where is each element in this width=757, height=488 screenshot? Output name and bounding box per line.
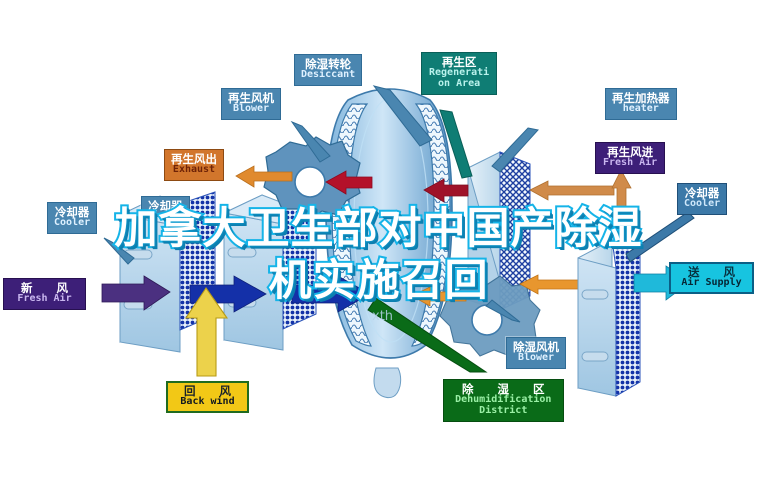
- label-regen-heater[interactable]: 再生加热器 heater: [605, 88, 677, 120]
- label-dehum-blower[interactable]: 除湿风机 Blower: [506, 337, 566, 369]
- label-cooler-left-en: Cooler: [54, 218, 90, 229]
- regen-fresh-arrow: [530, 170, 631, 228]
- label-cooler-mid-cn: 冷却器: [148, 200, 183, 212]
- label-back-wind[interactable]: 回 风 Back wind: [166, 381, 249, 413]
- diagram-canvas: xth 再生风机 Blower 除湿转轮 Desiccant 再生区 Regen…: [0, 0, 757, 488]
- label-air-supply[interactable]: 送 风 Air Supply: [669, 262, 754, 294]
- svg-text:xth: xth: [372, 309, 393, 324]
- label-cooler-left[interactable]: 冷却器 Cooler: [47, 202, 97, 234]
- label-desiccant-wheel-en: Desiccant: [301, 70, 355, 81]
- label-cooler-right[interactable]: 冷却器 Cooler: [677, 183, 727, 215]
- label-fresh-air-in-en: Fresh Air: [11, 294, 78, 305]
- label-regen-blower[interactable]: 再生风机 Blower: [221, 88, 281, 120]
- label-desiccant-wheel[interactable]: 除湿转轮 Desiccant: [294, 54, 362, 86]
- label-dehum-district-en2: District: [452, 406, 555, 417]
- schematic-artwork: xth: [0, 0, 757, 488]
- label-regen-fresh-air[interactable]: 再生风进 Fresh Air: [595, 142, 665, 174]
- label-cooler-mid[interactable]: 冷却器: [141, 196, 190, 217]
- label-regeneration-area-en2: on Area: [429, 79, 489, 90]
- label-exhaust[interactable]: 再生风出 Exhaust: [164, 149, 224, 181]
- label-regeneration-area[interactable]: 再生区 Regenerati on Area: [421, 52, 497, 95]
- label-cooler-right-en: Cooler: [684, 199, 720, 210]
- label-dehumidification-district[interactable]: 除 湿 区 Dehumidification District: [443, 379, 564, 422]
- label-back-wind-en: Back wind: [174, 397, 241, 408]
- label-regen-fresh-air-en: Fresh Air: [603, 158, 657, 169]
- label-air-supply-en: Air Supply: [678, 278, 745, 289]
- label-dehum-blower-en: Blower: [513, 353, 559, 364]
- label-regen-heater-en: heater: [612, 104, 670, 115]
- label-exhaust-en: Exhaust: [171, 165, 217, 176]
- label-fresh-air-in[interactable]: 新 风 Fresh Air: [3, 278, 86, 310]
- label-regen-blower-en: Blower: [228, 104, 274, 115]
